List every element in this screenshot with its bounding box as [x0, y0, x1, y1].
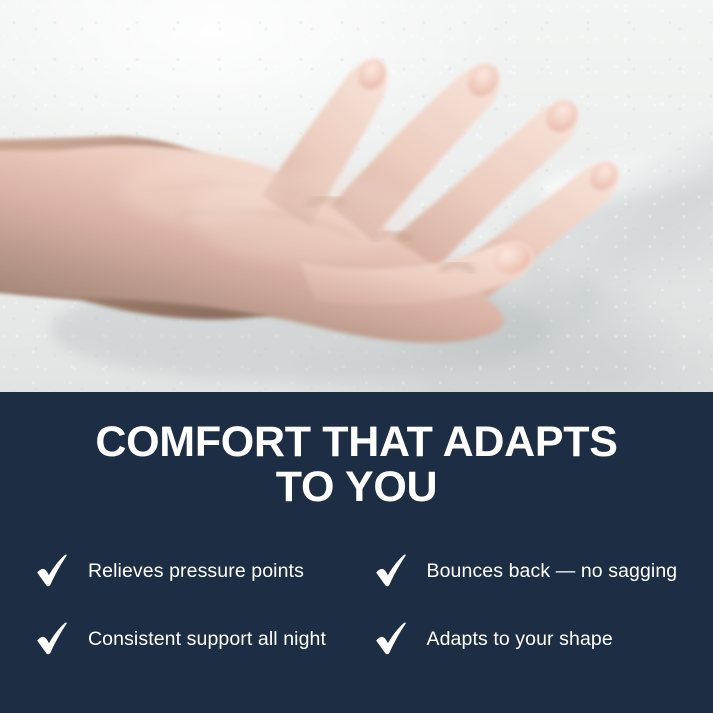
page-title: COMFORT THAT ADAPTSTO YOU [0, 392, 713, 509]
check-icon [34, 620, 72, 658]
check-icon [373, 620, 411, 658]
list-item: Relieves pressure points [18, 552, 357, 590]
headline-line-1: COMFORT THAT ADAPTS [95, 418, 617, 466]
list-item-label: Adapts to your shape [427, 628, 613, 651]
product-photo [0, 0, 713, 392]
list-item: Bounces back — no sagging [357, 552, 696, 590]
headline-line-2: TO YOU [276, 463, 438, 511]
check-icon [373, 552, 411, 590]
list-item-label: Consistent support all night [88, 628, 326, 651]
list-item: Consistent support all night [18, 620, 357, 658]
list-item-label: Bounces back — no sagging [427, 560, 678, 583]
hand-illustration [0, 0, 713, 392]
list-item-label: Relieves pressure points [88, 560, 304, 583]
info-panel: COMFORT THAT ADAPTSTO YOU Relieves press… [0, 392, 713, 713]
check-icon [34, 552, 72, 590]
feature-list: Relieves pressure points Bounces back — … [0, 552, 713, 658]
list-item: Adapts to your shape [357, 620, 696, 658]
product-feature-card: COMFORT THAT ADAPTSTO YOU Relieves press… [0, 0, 713, 713]
